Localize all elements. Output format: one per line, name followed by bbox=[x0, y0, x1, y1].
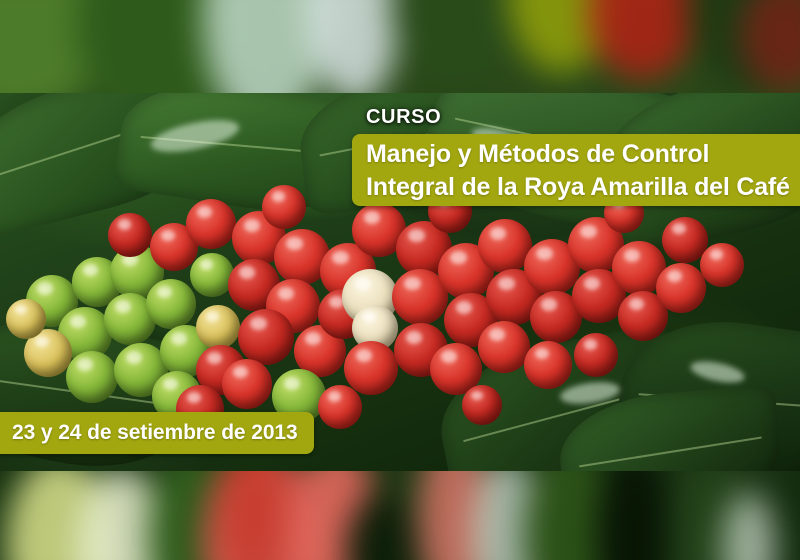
coffee-cherry bbox=[344, 341, 398, 395]
date-text: 23 y 24 de setiembre de 2013 bbox=[12, 421, 298, 445]
coffee-cherry bbox=[262, 185, 306, 229]
coffee-cherry bbox=[238, 309, 294, 365]
coffee-cherry bbox=[186, 199, 236, 249]
coffee-cherry bbox=[6, 299, 46, 339]
coffee-cherry bbox=[574, 333, 618, 377]
date-banner: 23 y 24 de setiembre de 2013 bbox=[0, 412, 314, 454]
coffee-cherry bbox=[222, 359, 272, 409]
coffee-cherry bbox=[462, 385, 502, 425]
coffee-cherry bbox=[318, 385, 362, 429]
title-line-2: Integral de la Roya Amarilla del Café bbox=[366, 171, 796, 204]
title-line-1: Manejo y Métodos de Control bbox=[366, 138, 796, 171]
coffee-cherry bbox=[524, 341, 572, 389]
coffee-cherry bbox=[146, 279, 196, 329]
promotional-poster: CURSO Manejo y Métodos de Control Integr… bbox=[0, 0, 800, 560]
title-lines: Manejo y Métodos de Control Integral de … bbox=[366, 138, 796, 204]
coffee-cherry bbox=[190, 253, 234, 297]
coffee-cherry bbox=[66, 351, 118, 403]
coffee-cherry bbox=[700, 243, 744, 287]
coffee-cherry bbox=[108, 213, 152, 257]
kicker-label: CURSO bbox=[366, 106, 441, 129]
coffee-cherry bbox=[656, 263, 706, 313]
coffee-cherry bbox=[196, 305, 240, 349]
coffee-cherry bbox=[478, 321, 530, 373]
title-banner: Manejo y Métodos de Control Integral de … bbox=[352, 134, 800, 206]
